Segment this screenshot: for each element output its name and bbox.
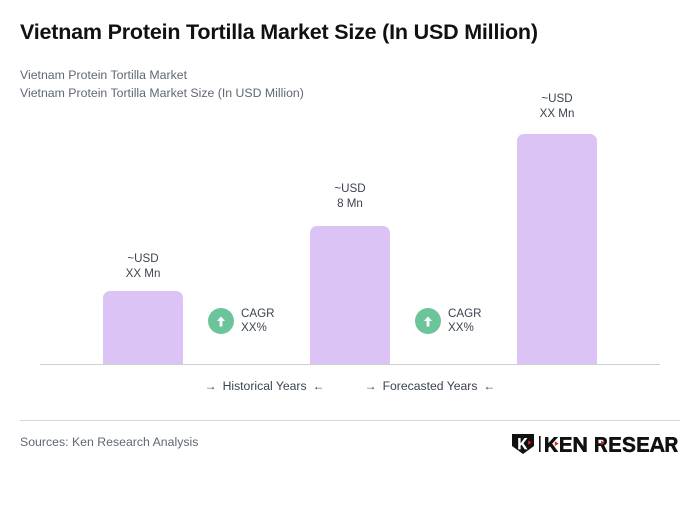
- cagr-label-1: CAGRXX%: [241, 307, 275, 335]
- arrow-right-icon: →: [205, 380, 217, 392]
- period-label-historical: → Historical Years ←: [205, 379, 325, 393]
- arrow-left-icon: ←: [313, 380, 325, 392]
- arrow-up-icon: [415, 308, 441, 334]
- bar-value-label-3: ~USD XX Mn: [492, 92, 622, 121]
- bar-value-label-1: ~USD XX Mn: [78, 252, 208, 281]
- ken-research-logo-mark: [510, 433, 678, 455]
- arrow-left-icon: ←: [483, 380, 495, 392]
- x-axis-line: [40, 364, 660, 365]
- period-label-forecasted: → Forecasted Years ←: [365, 379, 496, 393]
- arrow-right-icon: →: [365, 380, 377, 392]
- bar-1[interactable]: [103, 291, 183, 364]
- cagr-label-2: CAGRXX%: [448, 307, 482, 335]
- cagr-annotation-1: CAGRXX%: [208, 307, 275, 335]
- period-label-row: → Historical Years ← → Forecasted Years …: [0, 379, 700, 393]
- footer-divider: [20, 420, 680, 421]
- bar-2[interactable]: [310, 226, 390, 364]
- bar-value-label-2: ~USD 8 Mn: [285, 182, 415, 211]
- period-label-historical-text: Historical Years: [223, 379, 307, 393]
- ken-research-logo: [510, 433, 678, 455]
- bar-3[interactable]: [517, 134, 597, 364]
- sources-text: Sources: Ken Research Analysis: [20, 435, 198, 449]
- arrow-up-icon: [208, 308, 234, 334]
- cagr-annotation-2: CAGRXX%: [415, 307, 482, 335]
- chart-canvas: Vietnam Protein Tortilla Market Size (In…: [0, 0, 700, 520]
- bar-chart-plot: ~USD XX Mn CAGRXX% ~USD 8 Mn CAGRXX% ~US: [0, 0, 700, 420]
- period-label-forecasted-text: Forecasted Years: [383, 379, 478, 393]
